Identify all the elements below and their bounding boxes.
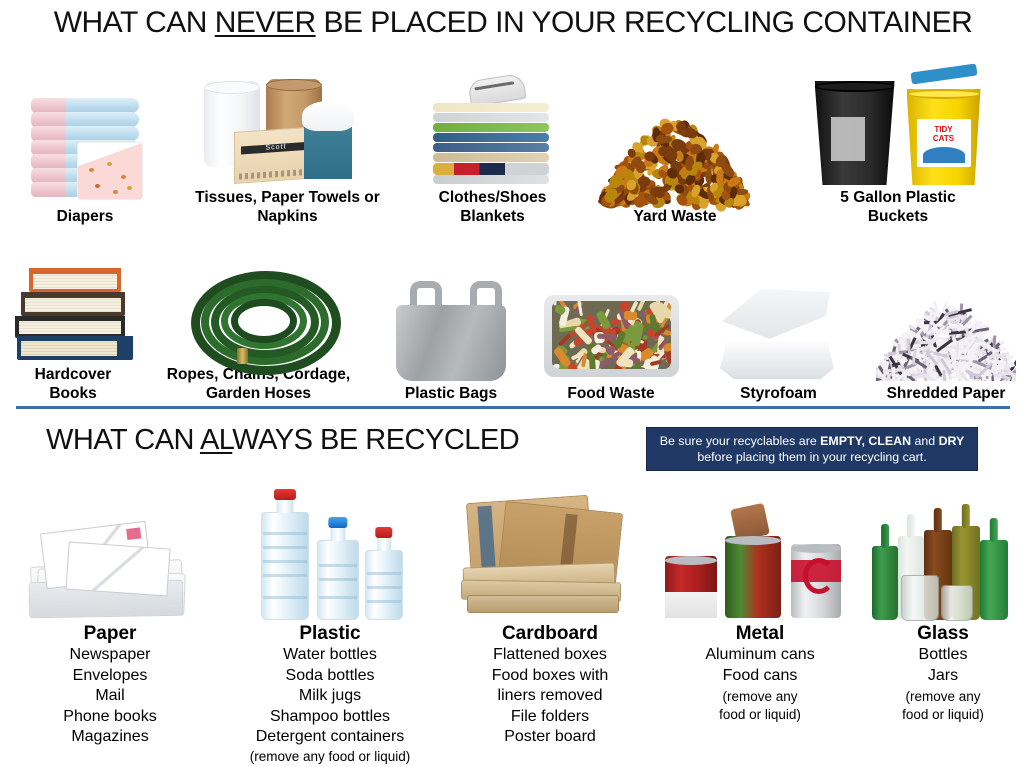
category-title: Plastic: [299, 622, 360, 645]
never-item-label: Food Waste: [567, 384, 654, 403]
never-item-food-waste: Food Waste: [531, 271, 691, 403]
category-item: Bottles: [919, 645, 968, 666]
category-item: Milk jugs: [299, 686, 361, 707]
category-title: Glass: [917, 622, 969, 645]
never-item-label: Styrofoam: [740, 384, 817, 403]
category-note: (remove any food or liquid): [250, 748, 411, 766]
recyclable-category-plastic: Plastic Water bottles Soda bottles Milk …: [220, 470, 440, 766]
category-item: Aluminum cans: [705, 645, 814, 666]
recyclable-category-paper: Paper Newspaper Envelopes Mail Phone boo…: [0, 470, 220, 766]
styrofoam-image: [716, 271, 841, 381]
tissues-paper-towels-image: Scott: [200, 67, 375, 185]
shredded-paper-image: [876, 271, 1016, 381]
never-item-shredded-paper: Shredded Paper: [866, 271, 1026, 403]
metal-cans-image: [665, 470, 855, 620]
never-item-label: Diapers: [57, 207, 114, 226]
category-item: Water bottles: [283, 645, 377, 666]
never-item-label: Clothes/Shoes Blankets: [405, 188, 580, 226]
never-item-yard-waste: Yard Waste: [580, 86, 770, 226]
never-item-label: Shredded Paper: [887, 384, 1006, 403]
category-note-2: food or liquid): [719, 706, 801, 724]
always-title-prefix: WHAT CAN: [46, 424, 200, 456]
callout-part2: and: [911, 434, 939, 448]
category-item: Poster board: [504, 727, 596, 748]
category-item: Detergent containers: [256, 727, 405, 748]
never-section-title: WHAT CAN NEVER BE PLACED IN YOUR RECYCLI…: [0, 0, 1026, 40]
never-row-1: Diapers Scott Tissues, Paper Towels or N…: [0, 56, 1026, 226]
cardboard-image: [458, 470, 643, 620]
callout-bold-dry: DRY: [939, 434, 965, 448]
clothes-shoes-blankets-image: [425, 67, 560, 185]
garden-hose-image: [189, 252, 329, 362]
category-item: liners removed: [498, 686, 603, 707]
always-section-title: WHAT CAN ALWAYS BE RECYCLED: [0, 424, 686, 457]
recyclable-category-metal: Metal Aluminum cans Food cans (remove an…: [660, 470, 860, 766]
never-item-label: Hardcover Books: [13, 365, 133, 403]
category-note-2: food or liquid): [902, 706, 984, 724]
yard-waste-image: [600, 86, 750, 204]
never-item-buckets: TIDYCATS 5 Gallon Plastic Buckets: [770, 63, 1026, 226]
never-item-diapers: Diapers: [0, 86, 170, 226]
paper-mail-image: [28, 470, 193, 620]
recyclable-category-glass: Glass Bottles Jars (remove any food or l…: [860, 470, 1026, 766]
plastic-bottles-image: [255, 470, 405, 620]
always-title-underlined: AL: [200, 424, 232, 456]
plastic-bag-image: [396, 271, 506, 381]
category-item: Newspaper: [70, 645, 151, 666]
never-title-suffix: BE PLACED IN YOUR RECYCLING CONTAINER: [316, 6, 973, 39]
diapers-image: [25, 86, 145, 204]
hardcover-books-image: [11, 252, 136, 362]
never-row-2: Hardcover Books Ropes, Chains, Cordage, …: [0, 238, 1026, 403]
glass-bottles-image: [868, 470, 1018, 620]
never-item-styrofoam: Styrofoam: [691, 271, 866, 403]
category-item: Soda bottles: [286, 666, 375, 687]
category-item: Envelopes: [73, 666, 148, 687]
category-item: Jars: [928, 666, 958, 687]
recyclable-categories: Paper Newspaper Envelopes Mail Phone boo…: [0, 470, 1026, 766]
never-item-hose: Ropes, Chains, Cordage, Garden Hoses: [146, 252, 371, 403]
never-title-prefix: WHAT CAN: [54, 6, 215, 39]
always-title-suffix: WAYS BE RECYCLED: [232, 424, 519, 456]
category-note: (remove any: [722, 688, 797, 706]
plastic-buckets-image: TIDYCATS: [811, 63, 986, 185]
never-item-label: Yard Waste: [634, 207, 717, 226]
category-item: Phone books: [63, 707, 156, 728]
category-note: (remove any: [905, 688, 980, 706]
callout-bold-empty-clean: EMPTY, CLEAN: [820, 434, 911, 448]
category-title: Metal: [736, 622, 785, 645]
category-item: Food boxes with: [492, 666, 609, 687]
recyclable-category-cardboard: Cardboard Flattened boxes Food boxes wit…: [440, 470, 660, 766]
never-item-label: Plastic Bags: [405, 384, 497, 403]
callout-box: Be sure your recyclables are EMPTY, CLEA…: [646, 427, 978, 471]
category-item: Shampoo bottles: [270, 707, 390, 728]
never-item-label: Tissues, Paper Towels or Napkins: [180, 188, 395, 226]
category-item: Food cans: [723, 666, 798, 687]
section-divider: [16, 406, 1010, 409]
never-item-clothes: Clothes/Shoes Blankets: [405, 67, 580, 226]
never-item-tissues: Scott Tissues, Paper Towels or Napkins: [170, 67, 405, 226]
category-item: Mail: [95, 686, 124, 707]
category-item: Flattened boxes: [493, 645, 607, 666]
category-item: Magazines: [71, 727, 148, 748]
callout-part3: before placing them in your recycling ca…: [697, 450, 926, 464]
category-title: Paper: [84, 622, 137, 645]
never-item-books: Hardcover Books: [0, 252, 146, 403]
food-waste-image: [544, 271, 679, 381]
callout-part1: Be sure your recyclables are: [660, 434, 820, 448]
category-item: File folders: [511, 707, 589, 728]
never-title-underlined: NEVER: [215, 6, 316, 39]
never-item-plastic-bags: Plastic Bags: [371, 271, 531, 403]
recycling-infographic: WHAT CAN NEVER BE PLACED IN YOUR RECYCLI…: [0, 0, 1026, 767]
never-item-label: 5 Gallon Plastic Buckets: [808, 188, 988, 226]
category-title: Cardboard: [502, 622, 598, 645]
